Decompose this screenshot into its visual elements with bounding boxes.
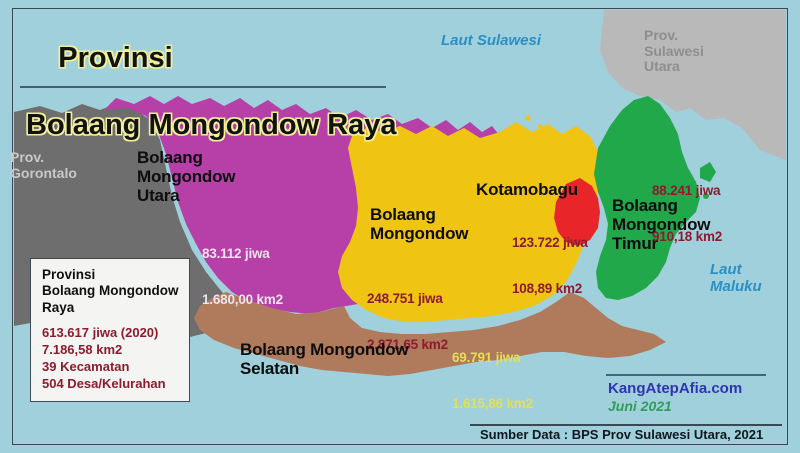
area-value: 108,89 km2 (512, 281, 588, 296)
watermark-rule (606, 374, 766, 376)
legend-stat-desa: 504 Desa/Kelurahan (42, 376, 180, 393)
source-rule (470, 424, 782, 426)
legend-stat-population: 613.617 jiwa (2020) (42, 325, 180, 342)
title-line-1: Provinsi (58, 42, 172, 74)
title-line-2: Bolaang Mongondow Raya (26, 109, 397, 141)
label-bolaang-mongondow[interactable]: Bolaang Mongondow (370, 205, 468, 243)
label-prov-gorontalo: Prov. Gorontalo (10, 150, 77, 181)
legend-stat-area: 7.186,58 km2 (42, 342, 180, 359)
stats-bolaang-mongondow-timur: 88.241 jiwa 910,18 km2 (652, 153, 722, 274)
population-value: 83.112 jiwa (202, 246, 283, 261)
stats-bolaang-mongondow-selatan: 69.791 jiwa 1.615,86 km2 (452, 320, 533, 441)
area-value: 1.680,00 km2 (202, 292, 283, 307)
label-prov-sulawesi-utara: Prov. Sulawesi Utara (644, 28, 704, 75)
area-value: 1.615,86 km2 (452, 396, 533, 411)
label-kotamobagu[interactable]: Kotamobagu (476, 180, 578, 199)
legend-box: Provinsi Bolaang Mongondow Raya 613.617 … (30, 258, 190, 402)
title-underline (20, 86, 386, 88)
population-value: 248.751 jiwa (367, 291, 448, 306)
stats-kotamobagu: 123.722 jiwa 108,89 km2 (512, 205, 588, 326)
population-value: 88.241 jiwa (652, 183, 722, 198)
population-value: 123.722 jiwa (512, 235, 588, 250)
stats-bolaang-mongondow-utara: 83.112 jiwa 1.680,00 km2 (202, 216, 283, 337)
legend-stat-kecamatan: 39 Kecamatan (42, 359, 180, 376)
watermark-date: Juni 2021 (608, 398, 672, 414)
watermark-site[interactable]: KangAtepAfia.com (608, 380, 742, 397)
label-bolaang-mongondow-utara[interactable]: Bolaang Mongondow Utara (137, 148, 235, 205)
legend-title: Provinsi Bolaang Mongondow Raya (42, 267, 180, 316)
legend-stats: 613.617 jiwa (2020) 7.186,58 km2 39 Keca… (42, 325, 180, 393)
source-note: Sumber Data : BPS Prov Sulawesi Utara, 2… (480, 428, 763, 443)
label-laut-sulawesi: Laut Sulawesi (441, 33, 541, 50)
infographic-map: Provinsi Bolaang Mongondow Raya Prov. Go… (0, 0, 800, 453)
area-value: 910,18 km2 (652, 229, 722, 244)
population-value: 69.791 jiwa (452, 350, 533, 365)
label-bolaang-mongondow-selatan[interactable]: Bolaang Mongondow Selatan (240, 340, 408, 378)
